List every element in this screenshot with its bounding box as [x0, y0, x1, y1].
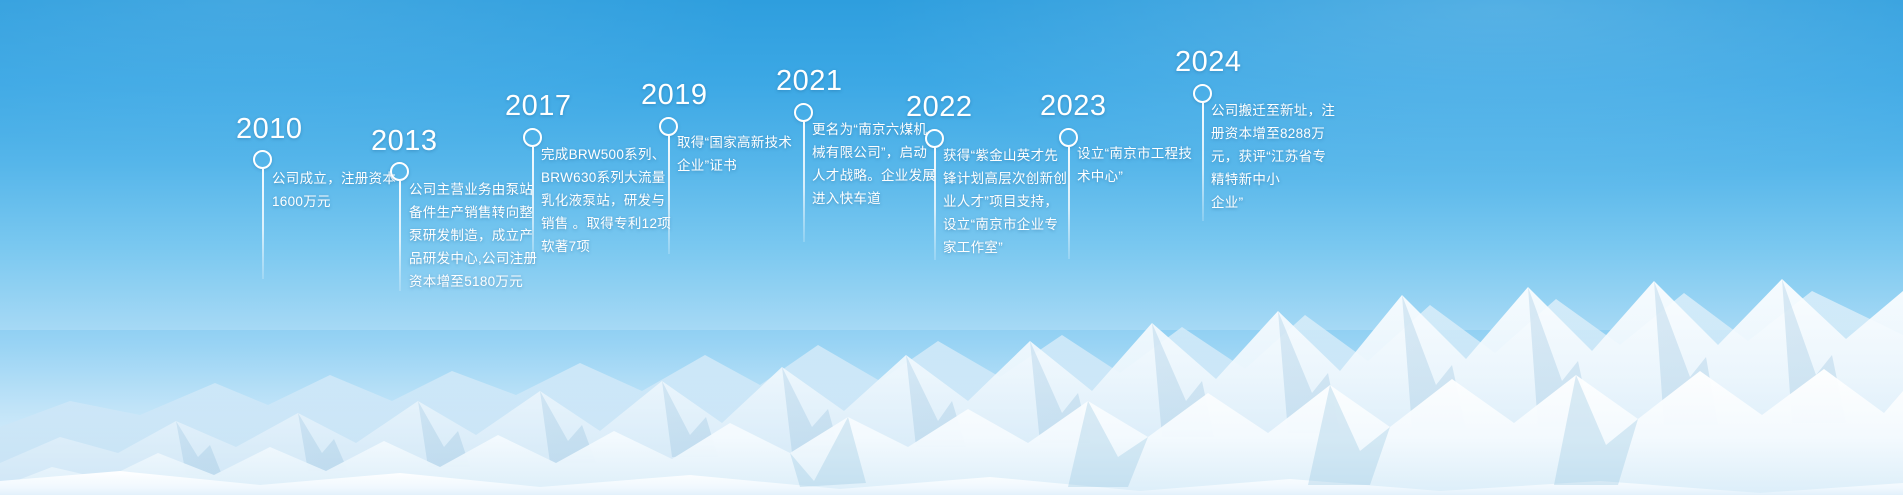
node-description-2013: 公司主营业务由泵站 备件生产销售转向整 泵研发制造，成立产 品研发中心,公司注册… — [409, 178, 549, 293]
node-description-2019: 取得“国家高新技术 企业”证书 — [677, 131, 817, 177]
node-dot-2022[interactable] — [925, 129, 944, 148]
node-dot-2021[interactable] — [794, 103, 813, 122]
year-label-2017: 2017 — [505, 90, 572, 123]
node-dot-2010[interactable] — [253, 150, 272, 169]
node-dot-2023[interactable] — [1059, 128, 1078, 147]
node-stem-2010 — [262, 169, 264, 279]
node-stem-2019 — [668, 136, 670, 254]
year-label-2013: 2013 — [371, 125, 438, 158]
node-stem-2021 — [803, 122, 805, 242]
node-stem-2024 — [1202, 103, 1204, 221]
node-dot-2013[interactable] — [390, 162, 409, 181]
node-dot-2024[interactable] — [1193, 84, 1212, 103]
node-stem-2023 — [1068, 147, 1070, 259]
timeline-track: 2010 公司成立，注册资本 1600万元 2013 公司主营业务由泵站 备件生… — [0, 0, 1903, 495]
node-dot-2019[interactable] — [659, 117, 678, 136]
node-stem-2022 — [934, 148, 936, 260]
node-stem-2017 — [532, 147, 534, 259]
year-label-2022: 2022 — [906, 91, 973, 124]
node-description-2024: 公司搬迁至新址，注 册资本增至8288万 元，获评“江苏省专 精特新中小 企业” — [1211, 99, 1359, 214]
year-label-2021: 2021 — [776, 65, 843, 98]
node-stem-2013 — [399, 181, 401, 291]
year-label-2019: 2019 — [641, 79, 708, 112]
timeline-infographic: 2010 公司成立，注册资本 1600万元 2013 公司主营业务由泵站 备件生… — [0, 0, 1903, 495]
year-label-2023: 2023 — [1040, 90, 1107, 123]
year-label-2024: 2024 — [1175, 46, 1242, 79]
year-label-2010: 2010 — [236, 113, 303, 146]
node-dot-2017[interactable] — [523, 128, 542, 147]
